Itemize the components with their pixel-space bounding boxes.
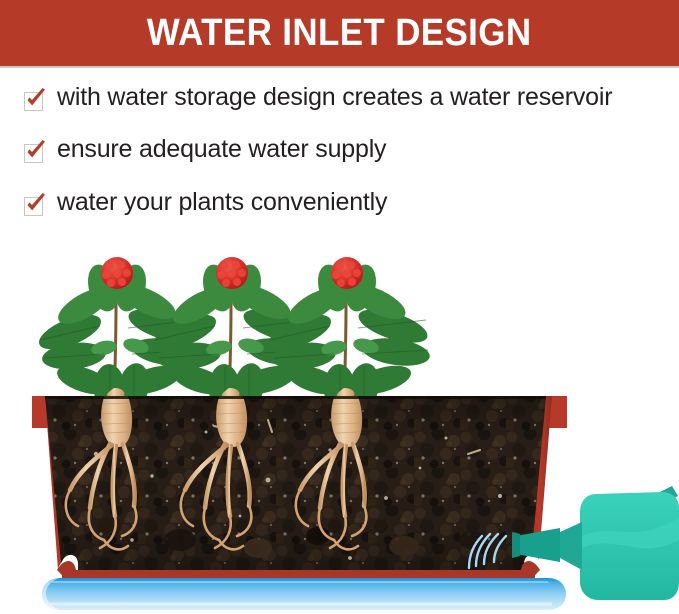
list-item: ensure adequate water supply <box>24 136 386 164</box>
berry-cluster <box>216 257 248 289</box>
list-item-label: with water storage design creates a wate… <box>57 84 612 111</box>
feature-list: with water storage design creates a wate… <box>0 70 679 242</box>
header-banner: WATER INLET DESIGN <box>0 0 679 66</box>
berry-cluster <box>331 257 363 289</box>
list-item-label: water your plants conveniently <box>57 189 387 216</box>
water-reservoir-tray <box>42 578 566 610</box>
checkbox-checked-icon <box>24 142 46 164</box>
header-divider <box>0 66 679 68</box>
checkbox-checked-icon <box>24 90 46 112</box>
list-item: with water storage design creates a wate… <box>24 84 612 112</box>
checkbox-checked-icon <box>24 195 46 217</box>
list-item: water your plants conveniently <box>24 189 387 217</box>
product-feature-infographic: WATER INLET DESIGN with water storage de… <box>0 0 679 614</box>
berry-cluster <box>101 257 133 289</box>
planter-cross-section-illustration <box>0 240 679 614</box>
list-item-label: ensure adequate water supply <box>57 136 386 163</box>
page-title: WATER INLET DESIGN <box>147 14 532 52</box>
